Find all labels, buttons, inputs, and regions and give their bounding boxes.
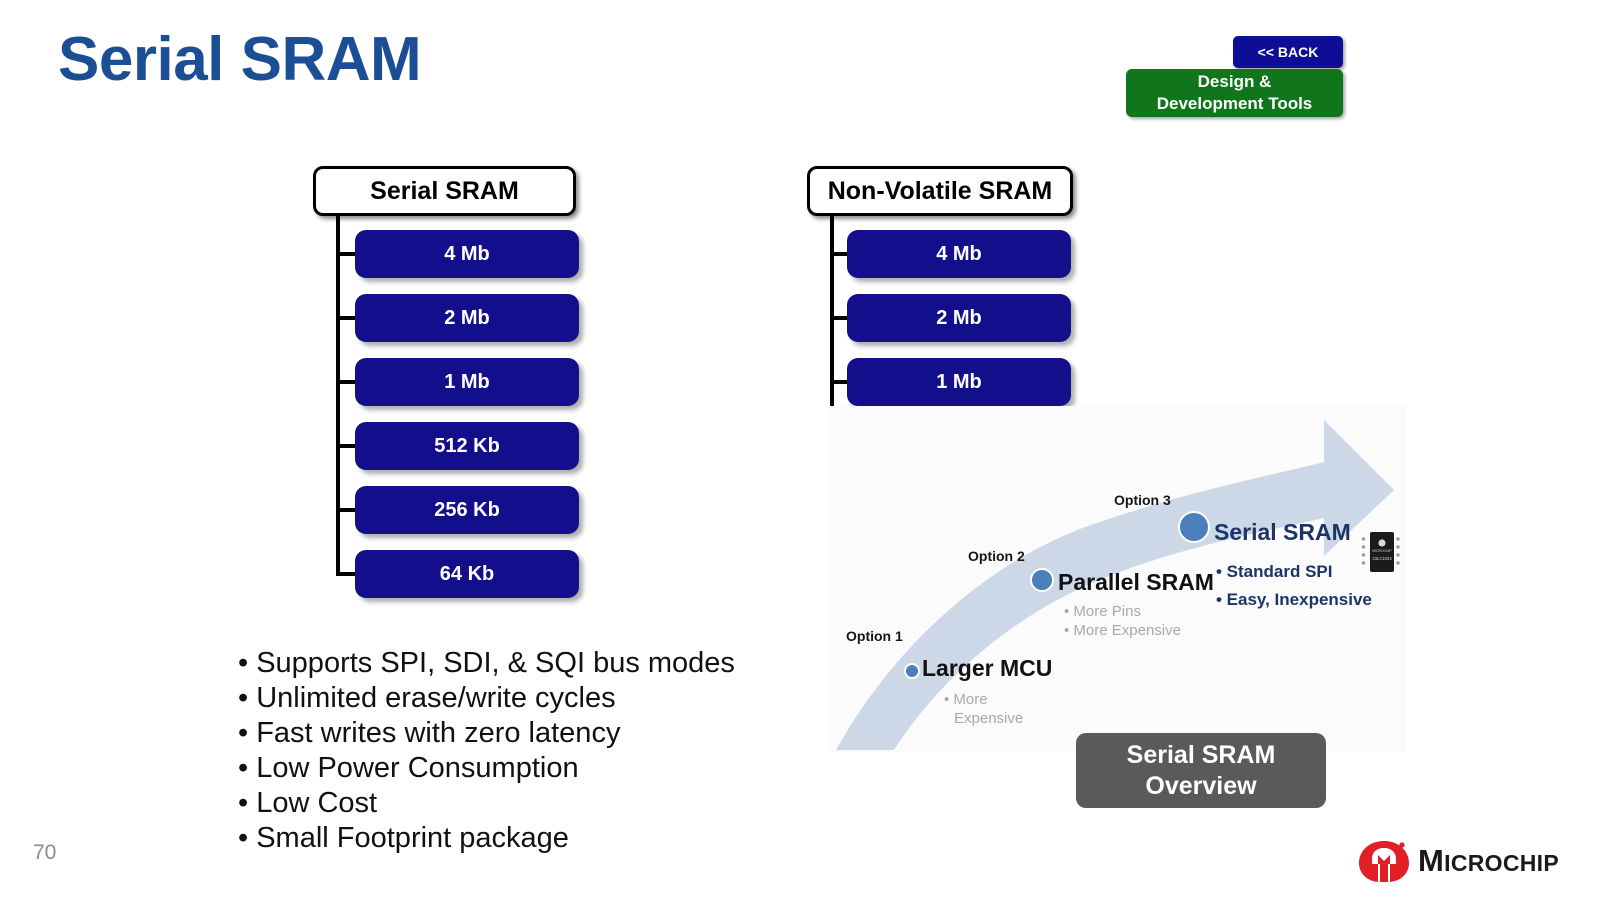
serial-sram-chip-image: MICROCHIP 23LC1024 bbox=[1361, 530, 1401, 574]
tree-node-right-2[interactable]: 1 Mb bbox=[847, 358, 1071, 406]
tree-node-left-3[interactable]: 512 Kb bbox=[355, 422, 579, 470]
chip-brand-text: MICROCHIP bbox=[1372, 549, 1392, 553]
tree-left-trunk bbox=[336, 216, 340, 574]
tree-connector-stub bbox=[336, 572, 355, 576]
microchip-logo: MICROCHIP bbox=[1358, 838, 1559, 884]
design-development-tools-button[interactable]: Design & Development Tools bbox=[1126, 69, 1343, 117]
back-button[interactable]: << BACK bbox=[1233, 36, 1343, 68]
tree-connector-stub bbox=[336, 508, 355, 512]
tree-connector-stub bbox=[830, 316, 847, 320]
tree-node-right-1[interactable]: 2 Mb bbox=[847, 294, 1071, 342]
tree-connector-stub bbox=[830, 380, 847, 384]
list-item: • Low Cost bbox=[238, 786, 735, 821]
tree-node-left-2[interactable]: 1 Mb bbox=[355, 358, 579, 406]
option-1-sub-1: Expensive bbox=[944, 709, 1023, 728]
option-2-sub-1: • More Expensive bbox=[1064, 621, 1181, 640]
option-3-tag: Option 3 bbox=[1114, 492, 1171, 508]
option-2-tag: Option 2 bbox=[968, 548, 1025, 564]
list-item: • Fast writes with zero latency bbox=[238, 716, 735, 751]
page-number: 70 bbox=[33, 841, 56, 865]
page-title: Serial SRAM bbox=[58, 24, 421, 95]
tree-node-left-5[interactable]: 64 Kb bbox=[355, 550, 579, 598]
logo-word-first: M bbox=[1418, 843, 1444, 878]
option-3-dot bbox=[1178, 511, 1210, 543]
tree-left-header[interactable]: Serial SRAM bbox=[313, 166, 576, 216]
option-3-features: • Standard SPI • Easy, Inexpensive bbox=[1216, 558, 1372, 614]
tree-node-left-0[interactable]: 4 Mb bbox=[355, 230, 579, 278]
chip-part-text: 23LC1024 bbox=[1372, 556, 1392, 561]
tree-connector-stub bbox=[336, 380, 355, 384]
list-item: • Low Power Consumption bbox=[238, 751, 735, 786]
option-3-name: Serial SRAM bbox=[1214, 519, 1351, 546]
option-1-name: Larger MCU bbox=[922, 655, 1052, 682]
tree-connector-stub bbox=[830, 252, 847, 256]
list-item: • Unlimited erase/write cycles bbox=[238, 681, 735, 716]
feature-bullet-list: • Supports SPI, SDI, & SQI bus modes • U… bbox=[238, 646, 735, 856]
option-2-subs: • More Pins • More Expensive bbox=[1064, 602, 1181, 640]
option-1-sub-0: • More bbox=[944, 690, 1023, 709]
tree-node-right-0[interactable]: 4 Mb bbox=[847, 230, 1071, 278]
serial-sram-tree: Serial SRAM 4 Mb2 Mb1 Mb512 Kb256 Kb64 K… bbox=[313, 166, 593, 606]
list-item: • Supports SPI, SDI, & SQI bus modes bbox=[238, 646, 735, 681]
microchip-mark-icon bbox=[1358, 838, 1410, 884]
logo-word-rest: ICROCHIP bbox=[1444, 850, 1559, 876]
option-3-feature-0: • Standard SPI bbox=[1216, 558, 1372, 586]
tree-node-left-1[interactable]: 2 Mb bbox=[355, 294, 579, 342]
option-1-dot bbox=[904, 663, 920, 679]
option-1-subs: • More Expensive bbox=[944, 690, 1023, 728]
tree-connector-stub bbox=[336, 444, 355, 448]
option-3-feature-1: • Easy, Inexpensive bbox=[1216, 586, 1372, 614]
serial-sram-overview-badge[interactable]: Serial SRAM Overview bbox=[1076, 733, 1326, 808]
tree-right-header[interactable]: Non-Volatile SRAM bbox=[807, 166, 1073, 216]
list-item: • Small Footprint package bbox=[238, 821, 735, 856]
overview-badge-line1: Serial SRAM bbox=[1127, 740, 1276, 771]
tree-node-left-4[interactable]: 256 Kb bbox=[355, 486, 579, 534]
tree-connector-stub bbox=[336, 316, 355, 320]
overview-badge-line2: Overview bbox=[1145, 771, 1256, 802]
option-2-sub-0: • More Pins bbox=[1064, 602, 1181, 621]
tools-button-line2: Development Tools bbox=[1157, 93, 1313, 115]
option-2-dot bbox=[1030, 568, 1054, 592]
memory-options-diagram: Option 1 Larger MCU • More Expensive Opt… bbox=[828, 406, 1406, 752]
option-1-tag: Option 1 bbox=[846, 628, 903, 644]
option-2-name: Parallel SRAM bbox=[1058, 569, 1214, 596]
microchip-wordmark: MICROCHIP bbox=[1418, 843, 1559, 879]
tree-connector-stub bbox=[336, 252, 355, 256]
tools-button-line1: Design & bbox=[1198, 71, 1272, 93]
slide-canvas: Serial SRAM << BACK Design & Development… bbox=[0, 0, 1600, 900]
